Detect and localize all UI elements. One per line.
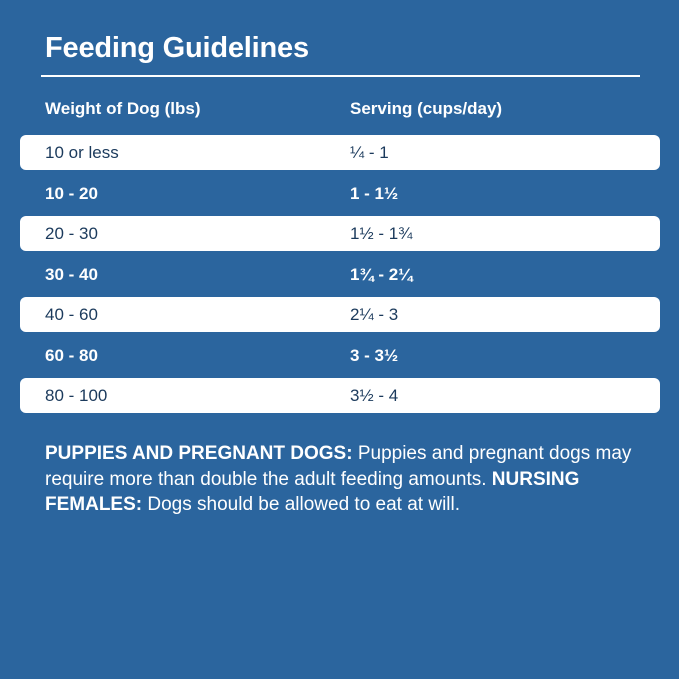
column-header-serving: Serving (cups/day) [350,98,502,120]
cell-serving: 1½ - 1¾ [350,223,412,244]
row-background [20,176,660,211]
cell-serving: 3 - 3½ [350,345,398,366]
row-background [20,378,660,413]
cell-serving: 1¾ - 2¼ [350,264,412,285]
cell-weight: 10 - 20 [45,183,98,204]
table-row: 60 - 80 3 - 3½ [0,337,679,378]
table-row: 10 or less ¼ - 1 [0,134,679,175]
table-row: 20 - 30 1½ - 1¾ [0,215,679,256]
cell-weight: 80 - 100 [45,385,107,406]
cell-serving: 2¼ - 3 [350,304,398,325]
cell-weight: 20 - 30 [45,223,98,244]
row-background [20,257,660,292]
page-title: Feeding Guidelines [45,31,309,65]
cell-weight: 30 - 40 [45,264,98,285]
cell-weight: 10 or less [45,142,119,163]
feeding-table: Weight of Dog (lbs) Serving (cups/day) 1… [0,98,679,418]
table-row: 30 - 40 1¾ - 2¼ [0,256,679,297]
feeding-guidelines-panel: Feeding Guidelines Weight of Dog (lbs) S… [0,0,679,679]
feeding-footnote: PUPPIES AND PREGNANT DOGS: Puppies and p… [45,441,645,518]
cell-serving: 1 - 1½ [350,183,398,204]
footnote-lead-puppies: PUPPIES AND PREGNANT DOGS: [45,443,353,464]
title-divider [41,75,640,77]
column-header-weight: Weight of Dog (lbs) [45,98,201,120]
row-background [20,338,660,373]
table-row: 80 - 100 3½ - 4 [0,377,679,418]
table-row: 10 - 20 1 - 1½ [0,175,679,216]
cell-weight: 60 - 80 [45,345,98,366]
cell-serving: ¼ - 1 [350,142,389,163]
row-background [20,216,660,251]
footnote-text-nursing: Dogs should be allowed to eat at will. [142,494,460,515]
row-background [20,297,660,332]
table-row: 40 - 60 2¼ - 3 [0,296,679,337]
cell-serving: 3½ - 4 [350,385,398,406]
table-header-row: Weight of Dog (lbs) Serving (cups/day) [0,98,679,134]
cell-weight: 40 - 60 [45,304,98,325]
